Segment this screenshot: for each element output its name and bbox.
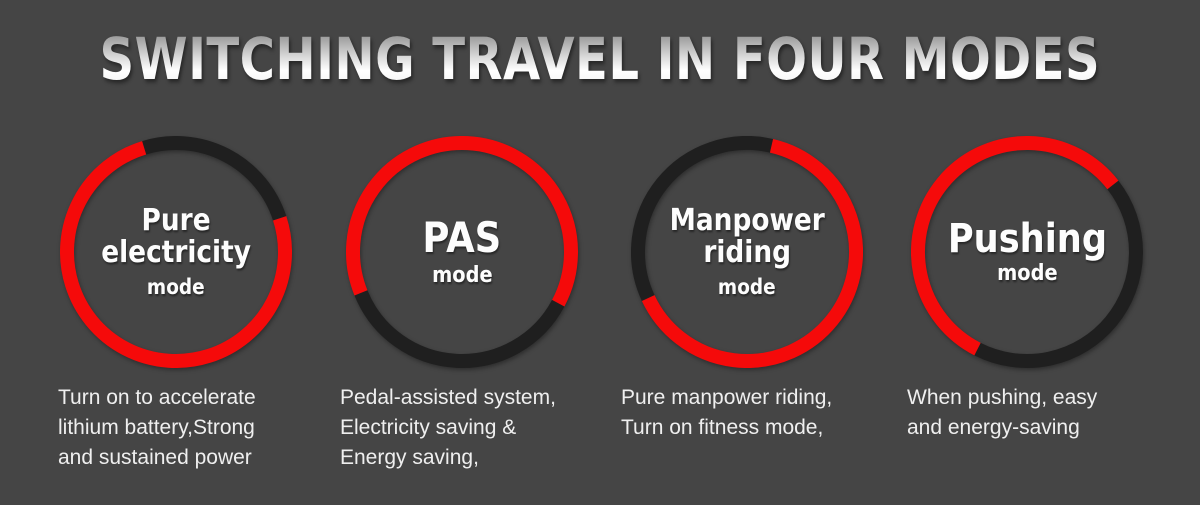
ring-arc-dark-3 — [978, 185, 1136, 361]
ring-arc-red-3 — [918, 143, 1113, 349]
mode-caption: Pure manpower riding, Turn on fitness mo… — [621, 383, 881, 443]
ring-arc-red-1 — [353, 143, 571, 303]
mode-card-pushing[interactable]: Pushing mode When pushing, easy and ener… — [883, 118, 1163, 505]
ring-svg — [346, 136, 578, 368]
ring-arc-red-2 — [648, 146, 856, 361]
mode-card-manpower-riding[interactable]: Manpower riding mode Pure manpower ridin… — [603, 118, 883, 505]
ring-svg — [631, 136, 863, 368]
mode-card-pas[interactable]: PAS mode Pedal-assisted system, Electric… — [318, 118, 598, 505]
ring-arc-dark-2 — [638, 143, 772, 298]
progress-ring-manpower-riding — [631, 136, 863, 368]
mode-caption: Pedal-assisted system, Electricity savin… — [340, 383, 598, 472]
ring-arc-dark-0 — [144, 143, 280, 218]
ring-svg — [60, 136, 292, 368]
ring-svg — [911, 136, 1143, 368]
title-banner: SWITCHING TRAVEL IN FOUR MODES — [0, 0, 1200, 118]
progress-ring-pas — [346, 136, 578, 368]
page-title: SWITCHING TRAVEL IN FOUR MODES — [100, 30, 1101, 88]
progress-ring-pushing — [911, 136, 1143, 368]
mode-caption: Turn on to accelerate lithium battery,St… — [58, 383, 308, 472]
progress-ring-pure-electricity — [60, 136, 292, 368]
mode-card-pure-electricity[interactable]: Pure electricity mode Turn on to acceler… — [32, 118, 312, 505]
mode-caption: When pushing, easy and energy-saving — [907, 383, 1163, 443]
modes-row: Pure electricity mode Turn on to acceler… — [0, 118, 1200, 505]
ring-arc-dark-1 — [361, 293, 558, 361]
